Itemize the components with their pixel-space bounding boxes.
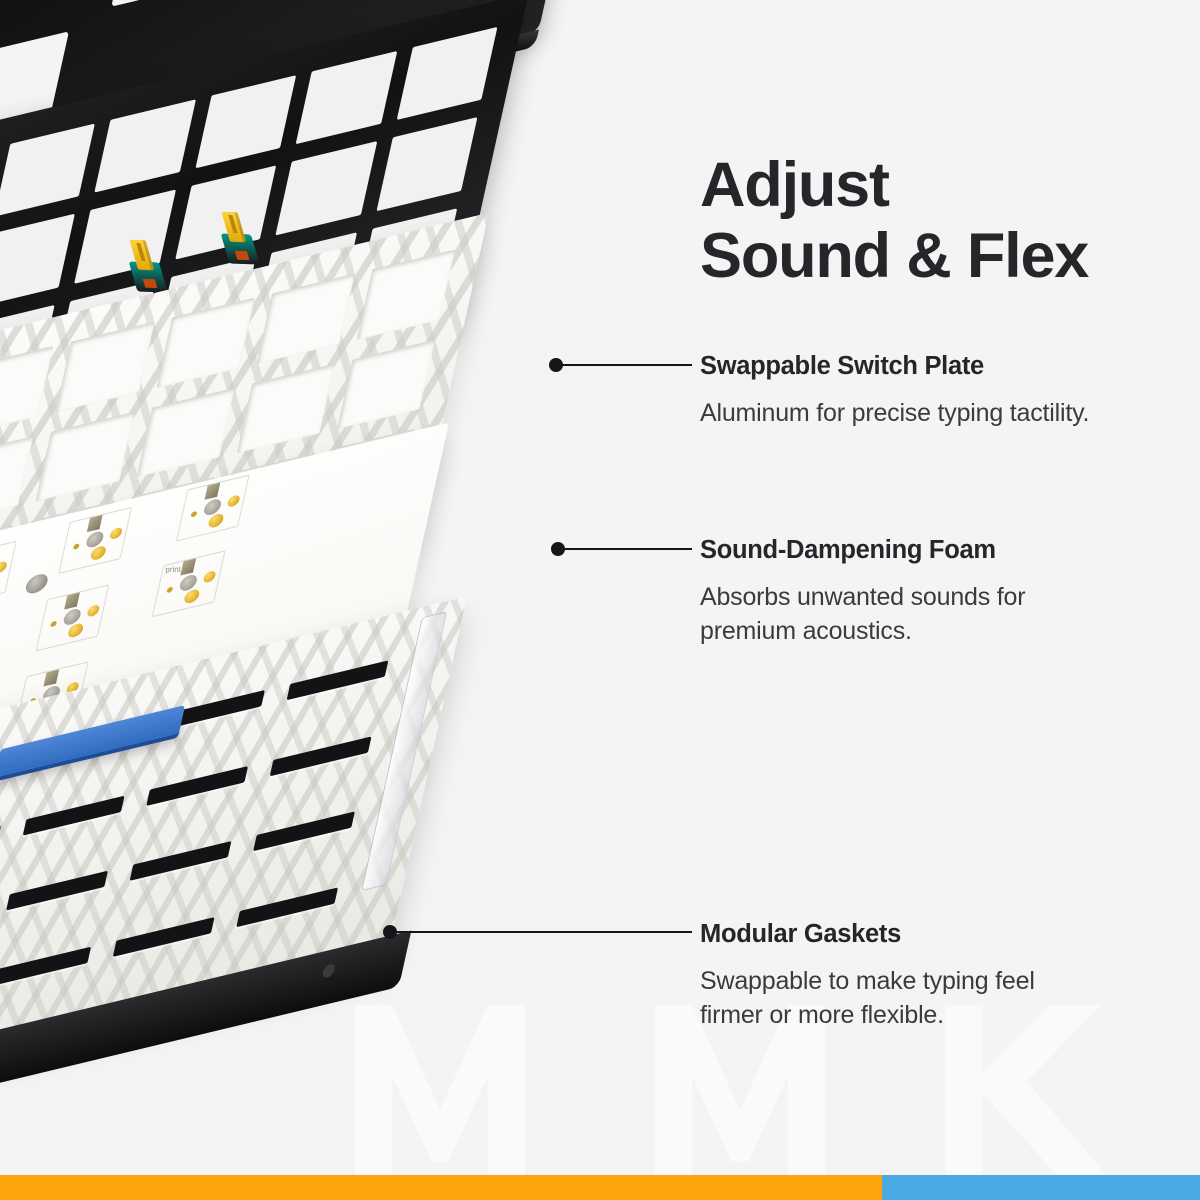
- pcb-silk-label: print: [165, 565, 181, 574]
- callout-title: Swappable Switch Plate: [700, 350, 1100, 384]
- leader-stroke: [561, 364, 692, 367]
- pcb-stabilizer-hole: [24, 572, 49, 596]
- leader-line-foam: [551, 542, 692, 556]
- callout-body: Aluminum for precise typing tactility.: [700, 396, 1100, 431]
- pcb-switch-footprint: [152, 550, 226, 617]
- leader-stroke: [563, 548, 692, 551]
- page-title: Adjust Sound & Flex: [700, 150, 1170, 291]
- callout-title: Sound-Dampening Foam: [700, 534, 1100, 568]
- callout-sound-dampening-foam: Sound-Dampening Foam Absorbs unwanted so…: [700, 534, 1100, 649]
- headline-line-1: Adjust: [700, 150, 889, 220]
- poster-canvas: alt ctrl shift print SERIOUS: [0, 0, 1200, 1200]
- pcb-switch-footprint: [176, 475, 250, 542]
- leader-stroke: [395, 931, 692, 934]
- callout-title: Modular Gaskets: [700, 918, 1100, 952]
- case-screw-hole: [321, 963, 336, 979]
- accent-bar-orange: [0, 1175, 882, 1200]
- plate-window: [111, 0, 434, 7]
- callout-modular-gaskets: Modular Gaskets Swappable to make typing…: [700, 918, 1100, 1033]
- pcb-switch-footprint: [36, 584, 110, 651]
- pcb-switch-footprint: [0, 541, 17, 608]
- text-panel: Adjust Sound & Flex Swappable Switch Pla…: [700, 0, 1180, 1200]
- bottom-accent-bar: [0, 1175, 1200, 1200]
- callout-body: Absorbs unwanted sounds for premium acou…: [700, 580, 1100, 649]
- accent-bar-blue: [882, 1175, 1200, 1200]
- pcb-switch-footprint: [58, 507, 132, 574]
- callout-body: Swappable to make typing feel firmer or …: [700, 964, 1100, 1033]
- leader-line-switch-plate: [549, 358, 692, 372]
- callout-swappable-switch-plate: Swappable Switch Plate Aluminum for prec…: [700, 350, 1100, 430]
- product-photo-exploded-keyboard: alt ctrl shift print SERIOUS: [0, 0, 680, 1200]
- leader-line-gaskets: [383, 925, 692, 939]
- headline-line-2: Sound & Flex: [700, 221, 1170, 292]
